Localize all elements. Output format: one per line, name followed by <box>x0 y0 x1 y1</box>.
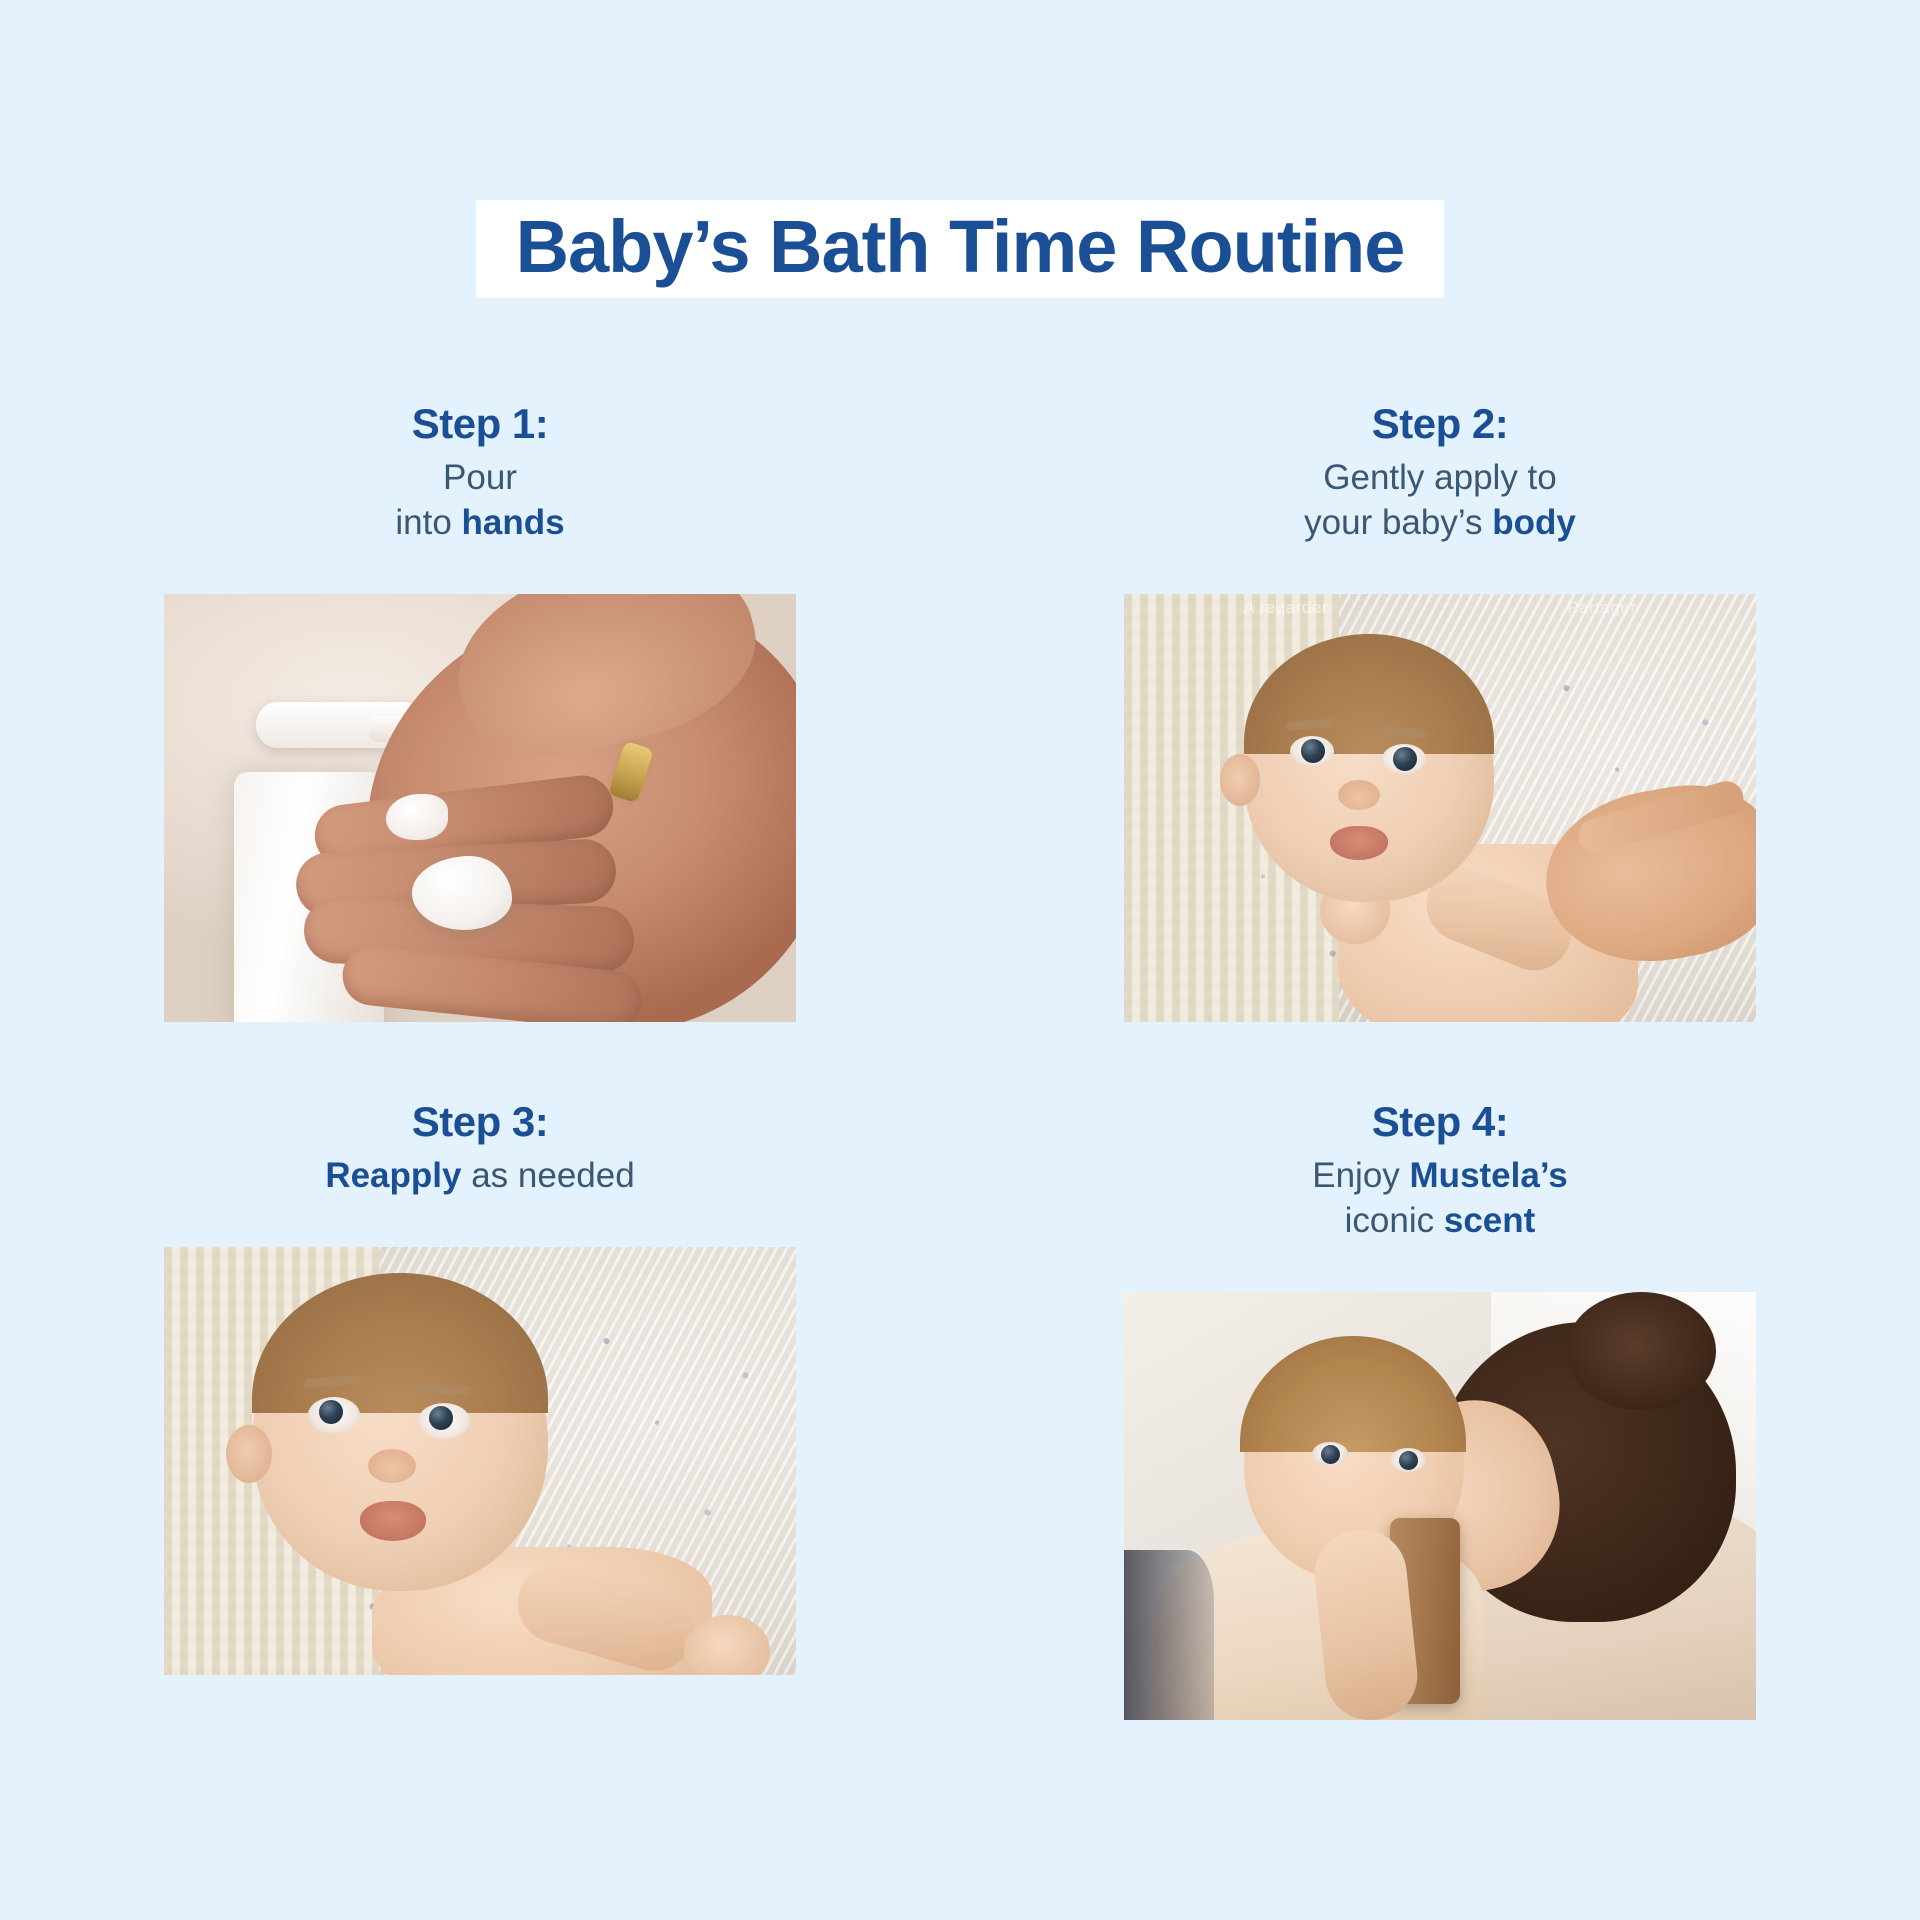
step-4-description: Enjoy Mustela’s iconic scent <box>1312 1154 1567 1244</box>
step-4-line-2-bold: scent <box>1444 1201 1535 1240</box>
steps-row-1: Step 1: Pour into hands <box>0 400 1920 1022</box>
baby-ear <box>226 1425 272 1483</box>
step-3-line-bold: Reapply <box>325 1156 461 1195</box>
baby-nose <box>1338 780 1380 810</box>
step-2-heading: Step 2: <box>1372 400 1509 448</box>
baby-mouth <box>360 1501 426 1541</box>
baby-eye <box>1390 1448 1426 1472</box>
baby-mouth <box>1330 826 1388 860</box>
step-2-description: Gently apply to your baby’s body <box>1304 456 1576 546</box>
baby-eye <box>1312 1442 1348 1466</box>
step-4-line-1-bold: Mustela’s <box>1410 1156 1568 1195</box>
step-1-heading: Step 1: <box>412 400 549 448</box>
mother-hair-bun <box>1566 1292 1716 1410</box>
step-card-1: Step 1: Pour into hands <box>0 400 960 1022</box>
baby-eye <box>308 1397 360 1433</box>
baby-eye <box>1382 744 1426 774</box>
step-4-line-2-plain: iconic <box>1345 1201 1444 1240</box>
title-white-band: Baby’s Bath Time Routine <box>476 200 1445 298</box>
step-1-description: Pour into hands <box>395 456 564 546</box>
page-title-container: Baby’s Bath Time Routine <box>0 200 1920 298</box>
baby-ear <box>1220 754 1260 806</box>
page-title: Baby’s Bath Time Routine <box>516 210 1405 284</box>
step-card-2: Step 2: Gently apply to your baby’s body <box>960 400 1920 1022</box>
step-2-image: A regarder Partager <box>1124 594 1756 1022</box>
cream-dollop-small <box>386 794 448 840</box>
step-card-3: Step 3: Reapply as needed <box>0 1098 960 1720</box>
baby-nose <box>368 1449 416 1483</box>
step-3-heading: Step 3: <box>412 1098 549 1146</box>
step-1-image <box>164 594 796 1022</box>
step-4-line-1-plain: Enjoy <box>1312 1156 1409 1195</box>
cream-dollop <box>412 856 512 930</box>
step-4-image <box>1124 1292 1756 1720</box>
step-card-4: Step 4: Enjoy Mustela’s iconic scent <box>960 1098 1920 1720</box>
step-3-line-plain: as needed <box>461 1156 634 1195</box>
steps-row-2: Step 3: Reapply as needed <box>0 1098 1920 1720</box>
step-1-line-1: Pour <box>443 458 517 497</box>
step-3-description: Reapply as needed <box>325 1154 634 1199</box>
step-1-line-2-plain: into <box>395 503 461 542</box>
foreground-shadow <box>1124 1550 1214 1720</box>
step-1-line-2-bold: hands <box>462 503 565 542</box>
step-2-line-2-bold: body <box>1492 503 1576 542</box>
step-3-image <box>164 1247 796 1675</box>
step-4-heading: Step 4: <box>1372 1098 1509 1146</box>
steps-grid: Step 1: Pour into hands <box>0 400 1920 1720</box>
baby-eye <box>418 1403 470 1439</box>
step-2-line-2-plain: your baby’s <box>1304 503 1492 542</box>
baby-eye <box>1290 736 1334 766</box>
step-2-line-1: Gently apply to <box>1323 458 1556 497</box>
